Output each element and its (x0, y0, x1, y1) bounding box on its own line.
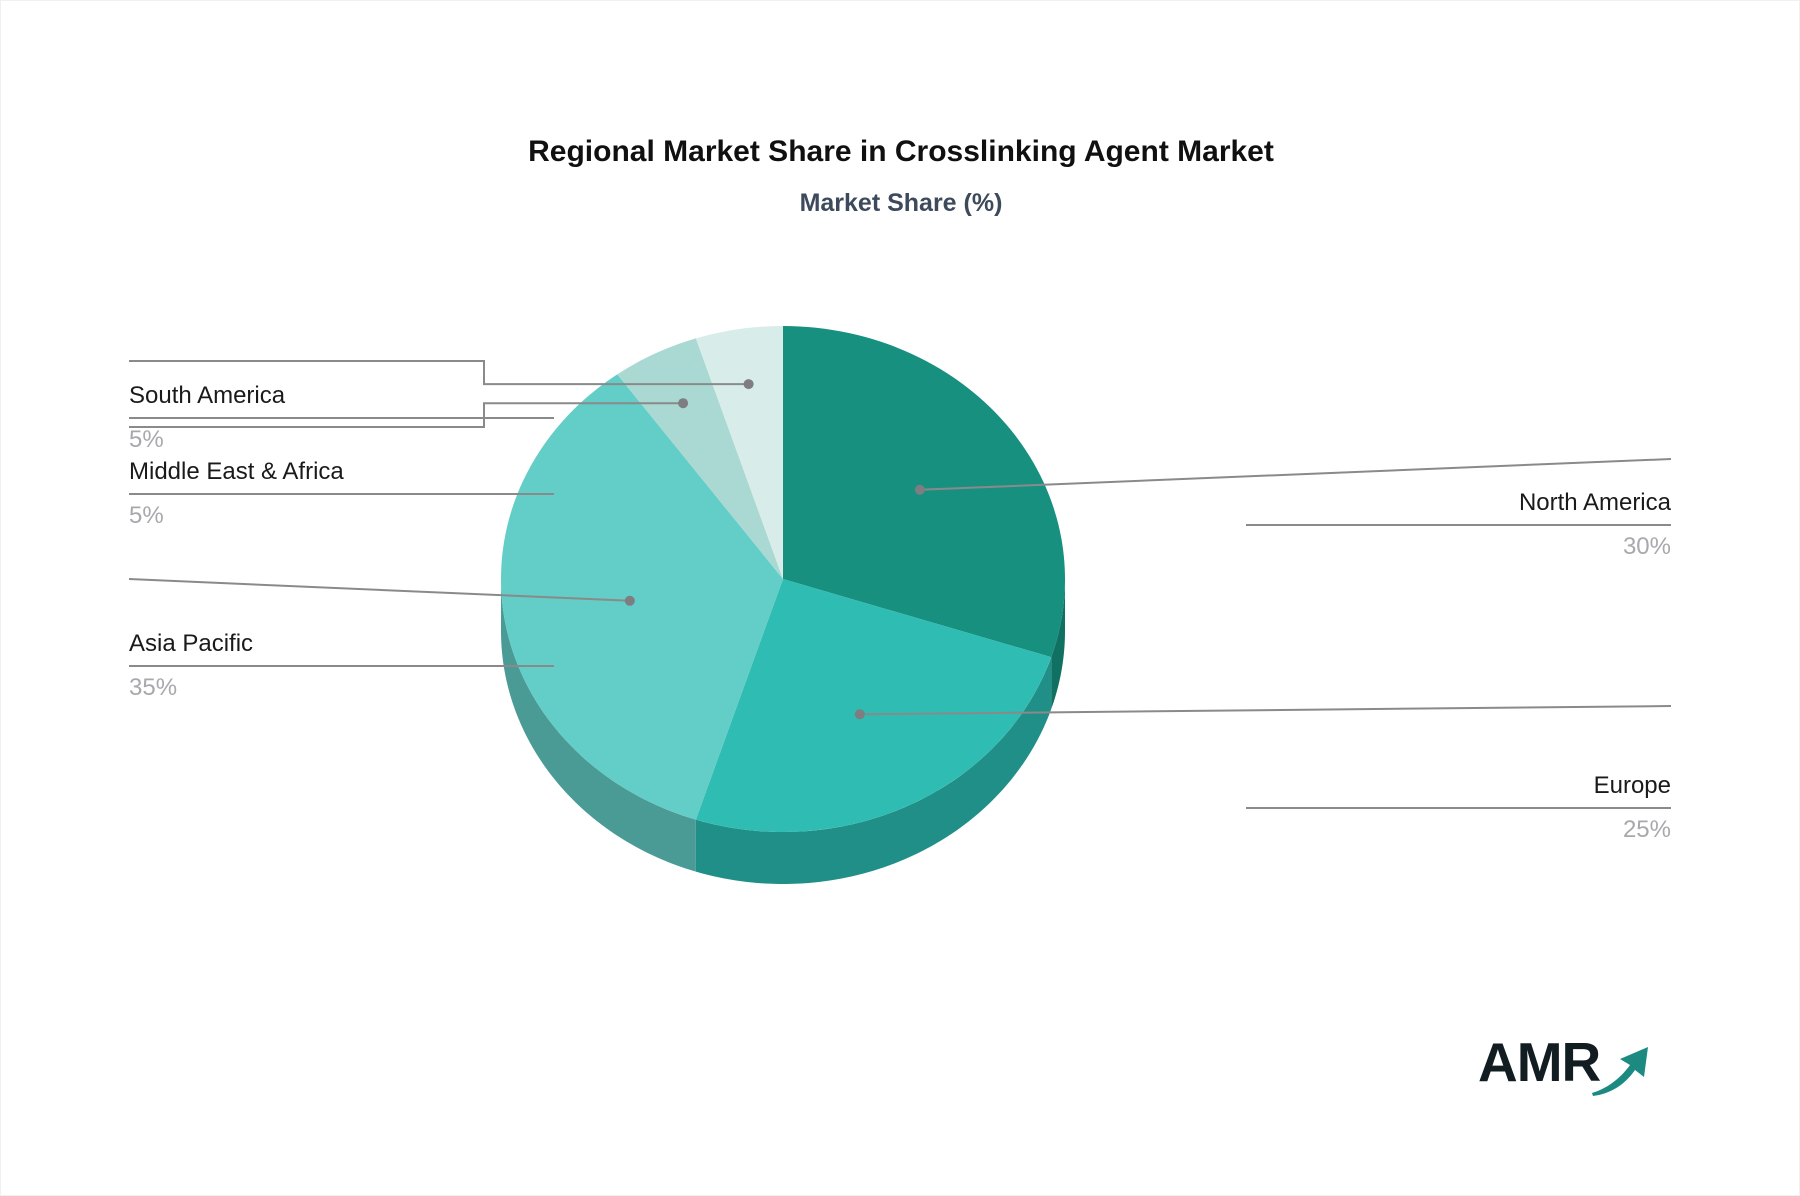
chart-page: Regional Market Share in Crosslinking Ag… (0, 0, 1800, 1196)
callout-label-middle-east-africa: Middle East & Africa (129, 460, 554, 493)
growth-arrow-icon (1590, 1039, 1652, 1097)
amr-logo: AMR (1478, 1033, 1648, 1099)
leader-dot-north-america (915, 485, 925, 495)
callout-south-america: South America 5% (129, 384, 554, 452)
callout-label-europe: Europe (1246, 774, 1671, 807)
leader-dot-europe (855, 709, 865, 719)
pie-chart-svg (1, 1, 1800, 1196)
leader-dot-south-america (744, 379, 754, 389)
callout-north-america: North America 30% (1246, 491, 1671, 559)
callout-label-asia-pacific: Asia Pacific (129, 632, 554, 665)
callout-value-south-america: 5% (129, 419, 554, 452)
leader-dot-asia-pacific (625, 596, 635, 606)
callout-label-south-america: South America (129, 384, 554, 417)
callout-value-middle-east-africa: 5% (129, 495, 554, 528)
pie-chart-area (1, 1, 1800, 1196)
callout-middle-east-africa: Middle East & Africa 5% (129, 460, 554, 528)
callout-label-north-america: North America (1246, 491, 1671, 524)
amr-logo-text: AMR (1478, 1033, 1600, 1091)
leader-dot-middle-east-africa (678, 398, 688, 408)
pie-slices (501, 326, 1065, 832)
callout-value-north-america: 30% (1246, 526, 1671, 559)
callout-asia-pacific: Asia Pacific 35% (129, 632, 554, 700)
callout-value-asia-pacific: 35% (129, 667, 554, 700)
callout-europe: Europe 25% (1246, 774, 1671, 842)
callout-value-europe: 25% (1246, 809, 1671, 842)
